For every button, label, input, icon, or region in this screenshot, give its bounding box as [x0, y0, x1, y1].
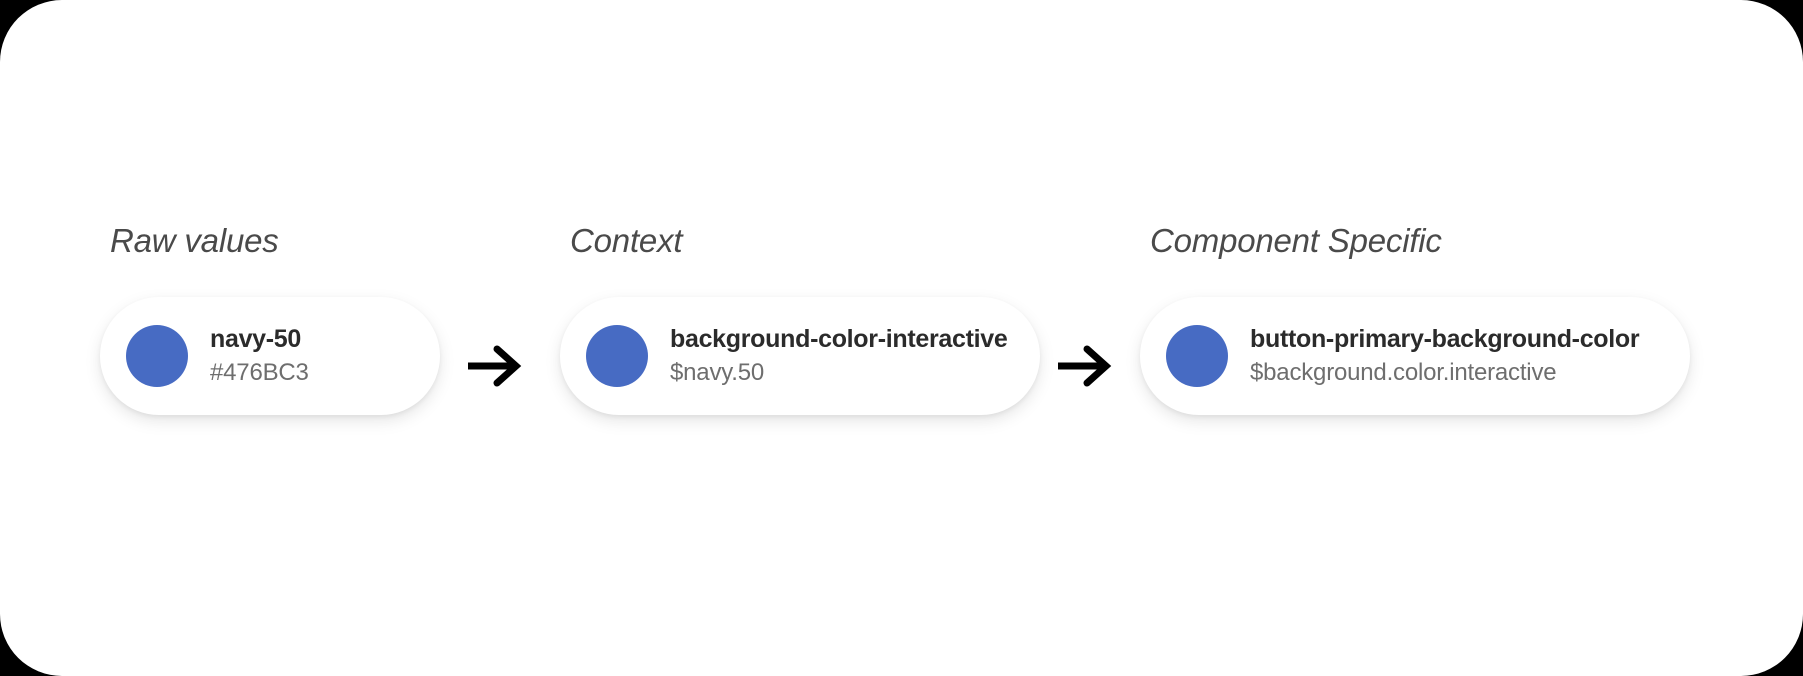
token-card-text: background-color-interactive $navy.50 [670, 323, 1008, 389]
token-card-text: navy-50 #476BC3 [210, 323, 309, 389]
color-swatch-circle-icon [586, 325, 648, 387]
color-swatch-circle-icon [1166, 325, 1228, 387]
token-name: navy-50 [210, 323, 309, 355]
token-card-raw-values[interactable]: navy-50 #476BC3 [100, 297, 440, 415]
token-value: $navy.50 [670, 357, 1008, 389]
token-card-component-specific[interactable]: button-primary-background-color $backgro… [1140, 297, 1690, 415]
token-flow-diagram: Raw values navy-50 #476BC3 Context backg… [0, 0, 1803, 676]
diagram-canvas: Raw values navy-50 #476BC3 Context backg… [0, 0, 1803, 676]
stage-label-component-specific: Component Specific [1150, 222, 1442, 260]
arrow-right-icon [464, 338, 526, 394]
token-card-context[interactable]: background-color-interactive $navy.50 [560, 297, 1040, 415]
stage-label-raw-values: Raw values [110, 222, 279, 260]
stage-label-context: Context [570, 222, 682, 260]
token-value: $background.color.interactive [1250, 357, 1639, 389]
token-card-text: button-primary-background-color $backgro… [1250, 323, 1639, 389]
color-swatch-circle-icon [126, 325, 188, 387]
arrow-right-icon [1054, 338, 1116, 394]
token-name: background-color-interactive [670, 323, 1008, 355]
token-name: button-primary-background-color [1250, 323, 1639, 355]
token-value: #476BC3 [210, 357, 309, 389]
